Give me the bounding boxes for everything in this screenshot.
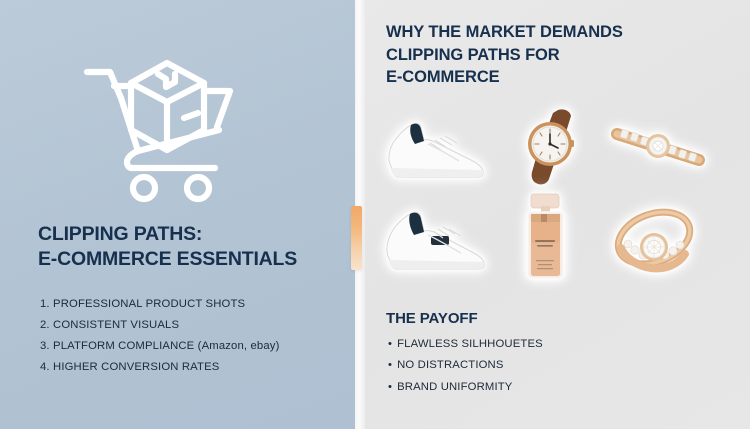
list-item-label: NO DISTRACTIONS bbox=[397, 359, 503, 371]
wristwatch-product bbox=[500, 102, 600, 186]
payoff-heading: THE PAYOFF bbox=[386, 310, 478, 327]
left-panel: CLIPPING PATHS: E-COMMERCE ESSENTIALS 1.… bbox=[0, 0, 355, 429]
right-panel: WHY THE MARKET DEMANDS CLIPPING PATHS FO… bbox=[355, 0, 750, 429]
left-numbered-list: 1. PROFESSIONAL PRODUCT SHOTS 2. CONSIST… bbox=[40, 294, 280, 378]
right-heading-line-2: CLIPPING PATHS FOR bbox=[386, 44, 623, 67]
list-item: 3. PLATFORM COMPLIANCE (Amazon, ebay) bbox=[40, 336, 280, 357]
foundation-bottle-product bbox=[507, 188, 585, 284]
payoff-bullet-list: •FLAWLESS SILHHOUETES •NO DISTRACTIONS •… bbox=[388, 334, 543, 398]
diamond-bracelet-product bbox=[603, 110, 713, 182]
list-item: •FLAWLESS SILHHOUETES bbox=[388, 334, 543, 355]
accent-bar bbox=[351, 206, 362, 270]
list-item: 1. PROFESSIONAL PRODUCT SHOTS bbox=[40, 294, 280, 315]
shopping-cart-with-box-icon bbox=[80, 50, 245, 205]
list-item: •BRAND UNIFORMITY bbox=[388, 377, 543, 398]
bullet-glyph: • bbox=[388, 359, 392, 371]
right-panel-heading: WHY THE MARKET DEMANDS CLIPPING PATHS FO… bbox=[386, 21, 623, 89]
list-item: 4. HIGHER CONVERSION RATES bbox=[40, 357, 280, 378]
product-image-grid bbox=[375, 100, 715, 290]
list-item-label: BRAND UNIFORMITY bbox=[397, 381, 512, 393]
left-heading-line-2: E-COMMERCE ESSENTIALS bbox=[38, 247, 297, 272]
white-sneaker-2-product bbox=[375, 198, 495, 278]
bullet-glyph: • bbox=[388, 338, 392, 350]
list-item: 2. CONSISTENT VISUALS bbox=[40, 315, 280, 336]
white-sneaker-product bbox=[375, 108, 495, 184]
right-heading-line-3: E-COMMERCE bbox=[386, 66, 623, 89]
list-item-label: FLAWLESS SILHHOUETES bbox=[397, 338, 543, 350]
list-item: •NO DISTRACTIONS bbox=[388, 355, 543, 376]
right-heading-line-1: WHY THE MARKET DEMANDS bbox=[386, 21, 623, 44]
left-heading-line-1: CLIPPING PATHS: bbox=[38, 223, 202, 245]
slide-root: CLIPPING PATHS: E-COMMERCE ESSENTIALS 1.… bbox=[0, 0, 750, 429]
bullet-glyph: • bbox=[388, 381, 392, 393]
left-panel-heading: CLIPPING PATHS: E-COMMERCE ESSENTIALS bbox=[38, 222, 297, 271]
diamond-ring-product bbox=[595, 192, 713, 284]
